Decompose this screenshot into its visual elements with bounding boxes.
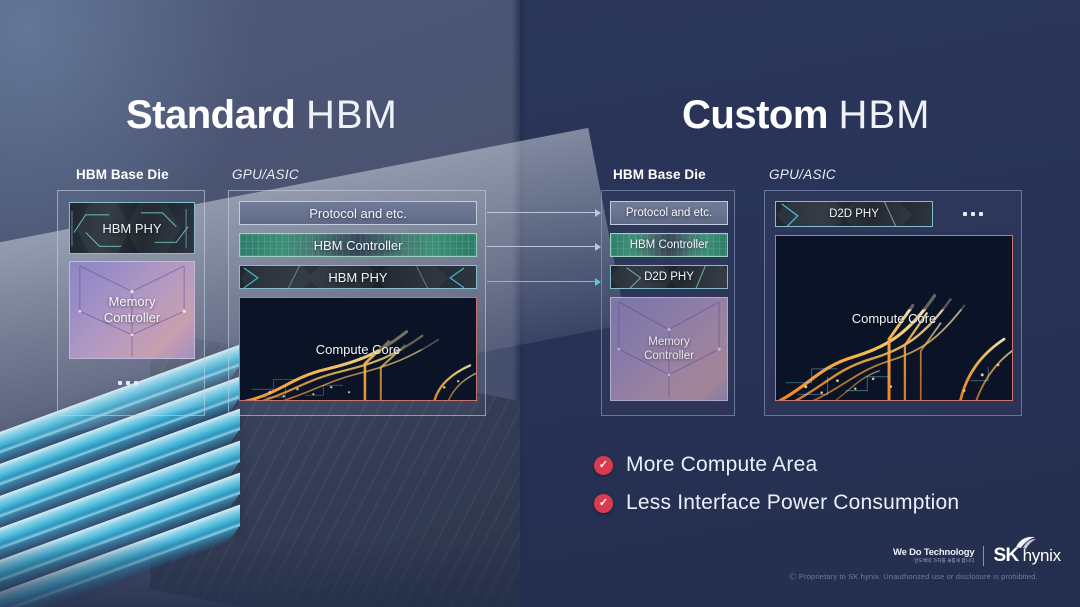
- benefit-item-1: ✓ More Compute Area: [594, 453, 817, 477]
- right-gpu-asic-caption: GPU/ASIC: [769, 167, 836, 182]
- right-gpu-block-d2d-phy[interactable]: D2D PHY: [775, 201, 933, 227]
- left-gpu-block-compute-core-label: Compute Core: [316, 342, 401, 357]
- left-title-light: HBM: [306, 93, 398, 137]
- left-gpu-asic-caption: GPU/ASIC: [232, 167, 299, 182]
- left-gpu-block-hbm-phy-label: HBM PHY: [328, 270, 387, 285]
- right-base-die-block-memory-controller[interactable]: Memory Controller: [610, 297, 728, 401]
- we-do-technology-tagline: We Do Technology 반도체의 가치를 새롭게 합니다: [893, 548, 974, 564]
- right-base-die-caption: HBM Base Die: [613, 167, 706, 182]
- right-gpu-block-compute-core-label: Compute Core: [852, 311, 937, 326]
- connector-hbm-controller: [487, 246, 600, 247]
- right-title-light: HBM: [839, 93, 931, 137]
- right-base-die-block-d2d-phy[interactable]: D2D PHY: [610, 265, 728, 289]
- benefit-item-1-label: More Compute Area: [626, 453, 817, 477]
- right-base-die-group: Protocol and etc. HBM Controller D2D PHY: [601, 190, 735, 416]
- left-gpu-block-protocol-label: Protocol and etc.: [309, 206, 407, 221]
- left-base-die-block-hbm-phy-label: HBM PHY: [102, 221, 161, 236]
- left-gpu-block-hbm-controller-label: HBM Controller: [314, 238, 403, 253]
- copyright-notice: Ⓒ Proprietary to SK hynix. Unauthorized …: [789, 571, 1038, 582]
- left-memory-controller-line2: Controller: [104, 310, 160, 326]
- connector-protocol: [487, 212, 600, 213]
- sk-hynix-logo: SK hynix: [993, 545, 1060, 567]
- right-gpu-block-compute-core[interactable]: Compute Core: [775, 235, 1013, 401]
- tagline-line1: We Do Technology: [893, 548, 974, 558]
- left-base-die-caption: HBM Base Die: [76, 167, 169, 182]
- left-panel-title: Standard HBM: [126, 93, 398, 138]
- right-memory-controller-line1: Memory: [648, 335, 690, 349]
- left-memory-controller-line1: Memory: [109, 294, 156, 310]
- left-gpu-block-hbm-phy[interactable]: HBM PHY: [239, 265, 477, 289]
- left-gpu-block-compute-core[interactable]: Compute Core: [239, 297, 477, 401]
- left-base-die-block-hbm-phy[interactable]: HBM PHY: [69, 202, 195, 254]
- connector-phy: [487, 281, 600, 282]
- right-panel-title: Custom HBM: [682, 93, 930, 138]
- footer-logo: We Do Technology 반도체의 가치를 새롭게 합니다 SK hyn…: [893, 545, 1061, 567]
- right-base-die-block-protocol-label: Protocol and etc.: [626, 207, 712, 219]
- right-base-die-block-hbm-controller[interactable]: HBM Controller: [610, 233, 728, 257]
- right-memory-controller-line2: Controller: [644, 349, 694, 363]
- left-title-bold: Standard: [126, 93, 295, 137]
- left-gpu-block-protocol[interactable]: Protocol and etc.: [239, 201, 477, 225]
- check-circle-icon: ✓: [594, 494, 613, 513]
- brand-hynix: hynix: [1023, 546, 1061, 566]
- left-gpu-block-hbm-controller[interactable]: HBM Controller: [239, 233, 477, 257]
- left-base-die-group: HBM PHY Memory Controller: [57, 190, 205, 416]
- right-title-bold: Custom: [682, 93, 828, 137]
- benefit-item-2-label: Less Interface Power Consumption: [626, 491, 959, 515]
- left-base-die-block-memory-controller[interactable]: Memory Controller: [69, 261, 195, 359]
- tagline-line2: 반도체의 가치를 새롭게 합니다: [914, 559, 974, 564]
- right-base-die-block-hbm-controller-label: HBM Controller: [630, 239, 709, 251]
- right-gpu-asic-group: D2D PHY: [764, 190, 1022, 416]
- check-circle-icon: ✓: [594, 456, 613, 475]
- right-gpu-ellipsis: [963, 212, 983, 216]
- right-base-die-block-protocol[interactable]: Protocol and etc.: [610, 201, 728, 225]
- left-gpu-asic-group: Protocol and etc. HBM Controller HBM PHY: [228, 190, 486, 416]
- slide-root: Standard HBM HBM Base Die GPU/ASIC HBM P…: [0, 0, 1080, 607]
- right-gpu-block-d2d-phy-label: D2D PHY: [829, 208, 879, 220]
- left-base-die-ellipsis: [118, 381, 138, 385]
- benefit-item-2: ✓ Less Interface Power Consumption: [594, 491, 959, 515]
- logo-divider: [983, 546, 984, 566]
- artwork-fade: [0, 537, 520, 607]
- right-base-die-block-d2d-phy-label: D2D PHY: [644, 271, 694, 283]
- sk-hynix-wing-icon: [1015, 536, 1037, 549]
